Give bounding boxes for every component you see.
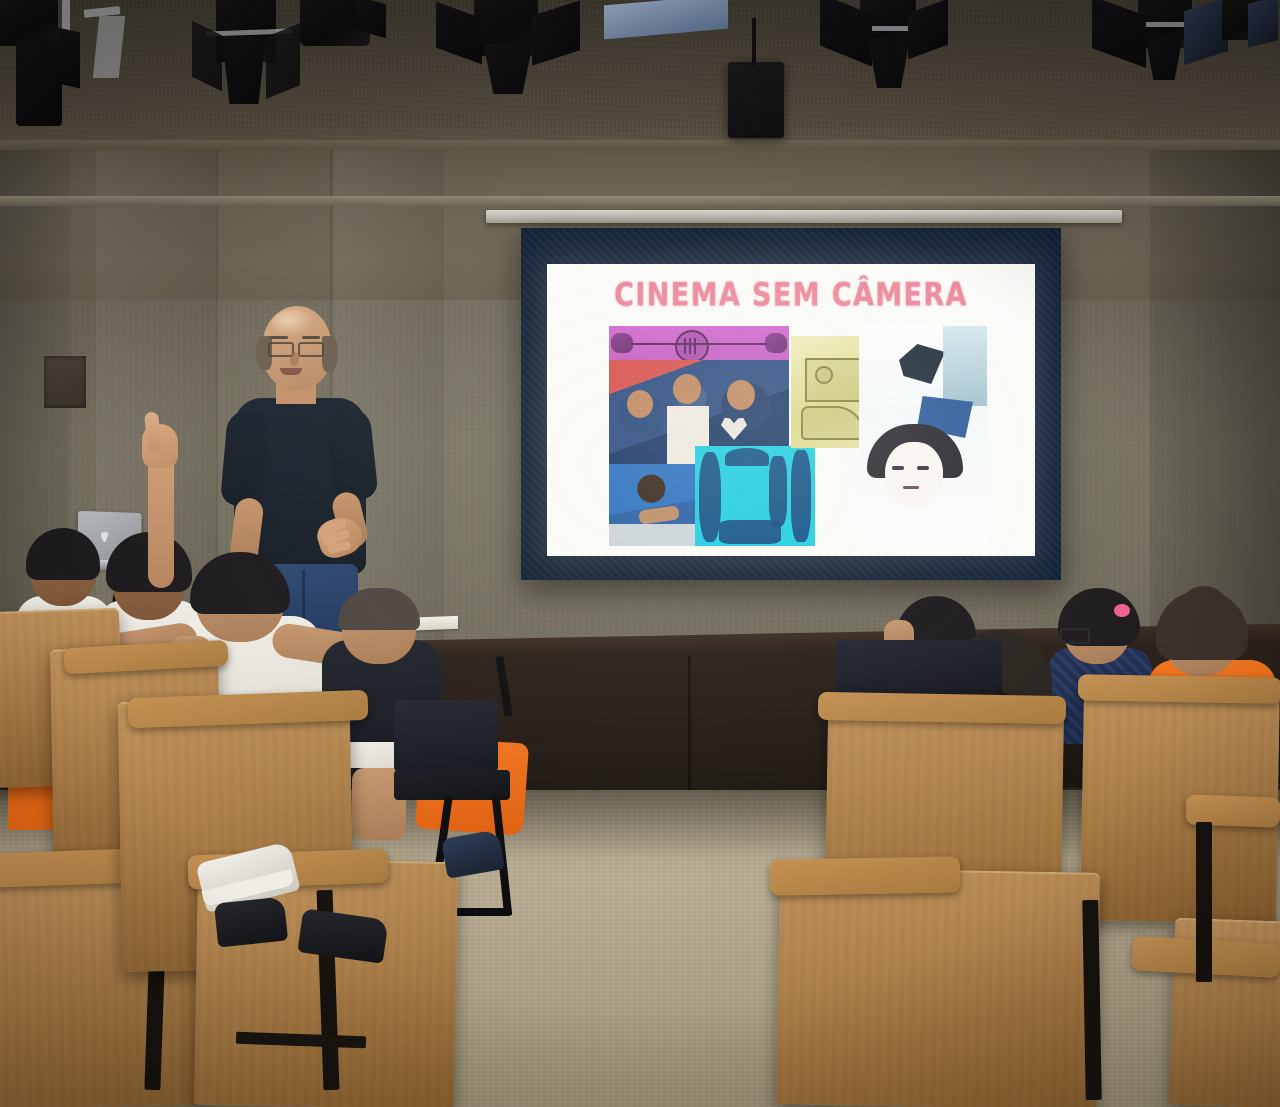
chair-arm-right-far xyxy=(818,692,1066,724)
stage-light-6 xyxy=(1092,0,1232,82)
raised-hand-arm xyxy=(148,448,174,588)
collage-tile-magenta-thaumatrope-banner xyxy=(609,326,789,362)
stage-light-4 xyxy=(436,0,586,104)
girl-right-3-glasses xyxy=(1060,628,1090,644)
collage-tile-child-portrait-montage xyxy=(859,326,989,546)
presenter-glasses-right xyxy=(298,342,324,357)
stage-light-5 xyxy=(820,0,950,92)
ceiling-projector-box xyxy=(728,62,784,138)
collage-tile-cyan-highcontrast-panel xyxy=(695,446,815,546)
projector-stem xyxy=(752,18,756,66)
chair-leg-post-right xyxy=(1196,822,1212,982)
chair-arm-right-near xyxy=(770,856,961,895)
chair-back-right-near xyxy=(776,867,1100,1107)
stage-light-7 xyxy=(1222,0,1280,60)
slide-collage xyxy=(609,326,989,546)
stage-light-3 xyxy=(300,0,390,54)
stage-light-1 xyxy=(0,0,110,130)
shoe-dark-1 xyxy=(214,896,288,947)
collage-tile-blue-boy-drawing xyxy=(609,464,701,546)
chair-arm-right-mid xyxy=(1078,674,1280,704)
front-desk-seam-1 xyxy=(688,656,691,796)
slide-title: CINEMA SEM CÂMERA xyxy=(547,277,1035,314)
ceiling-beam xyxy=(0,196,1280,206)
girl-right-4-bun xyxy=(1182,586,1226,620)
auditorium-photo: CINEMA SEM CÂMERA xyxy=(0,0,1280,1107)
projection-screen: CINEMA SEM CÂMERA xyxy=(547,264,1035,556)
girl-right-3-hairtie xyxy=(1114,604,1130,617)
screen-roller-bar xyxy=(486,210,1122,223)
wall-plaque xyxy=(44,356,86,408)
